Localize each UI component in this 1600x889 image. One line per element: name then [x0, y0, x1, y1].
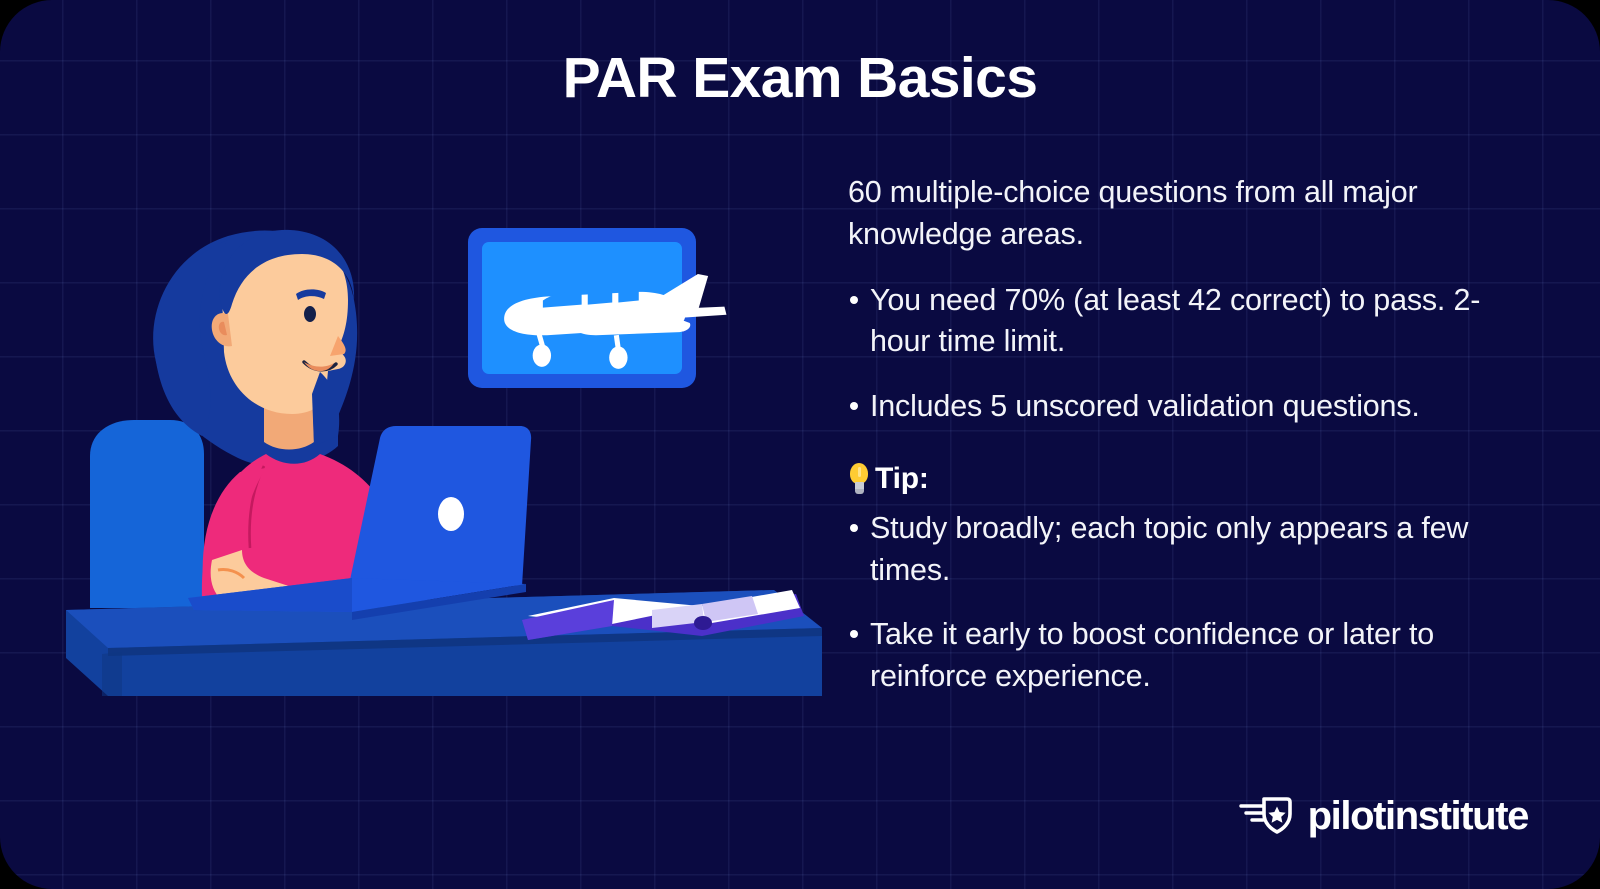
tip-label: Tip:: [875, 462, 929, 496]
brand-logo: pilotinstitute: [1239, 792, 1528, 839]
airplane-screen-icon: [468, 228, 726, 388]
list-item: Includes 5 unscored validation questions…: [848, 386, 1508, 428]
body-text-column: 60 multiple-choice questions from all ma…: [848, 172, 1508, 721]
logo-wordmark: pilotinstitute: [1308, 796, 1528, 836]
lightbulb-icon: [848, 463, 870, 495]
infographic-card: PAR Exam Basics: [0, 0, 1600, 889]
winged-shield-star-badge-icon: [1239, 792, 1293, 839]
list-item: You need 70% (at least 42 correct) to pa…: [848, 280, 1508, 364]
page-title: PAR Exam Basics: [0, 47, 1600, 110]
list-item: Study broadly; each topic only appears a…: [848, 508, 1508, 592]
main-bullet-list: You need 70% (at least 42 correct) to pa…: [848, 280, 1508, 428]
tip-bullet-list: Study broadly; each topic only appears a…: [848, 508, 1508, 698]
lead-paragraph: 60 multiple-choice questions from all ma…: [848, 172, 1508, 256]
tip-heading: Tip:: [848, 462, 1508, 496]
chair-illustration: [90, 420, 204, 608]
list-item: Take it early to boost confidence or lat…: [848, 614, 1508, 698]
woman-studying-at-laptop-illustration: [52, 196, 852, 716]
